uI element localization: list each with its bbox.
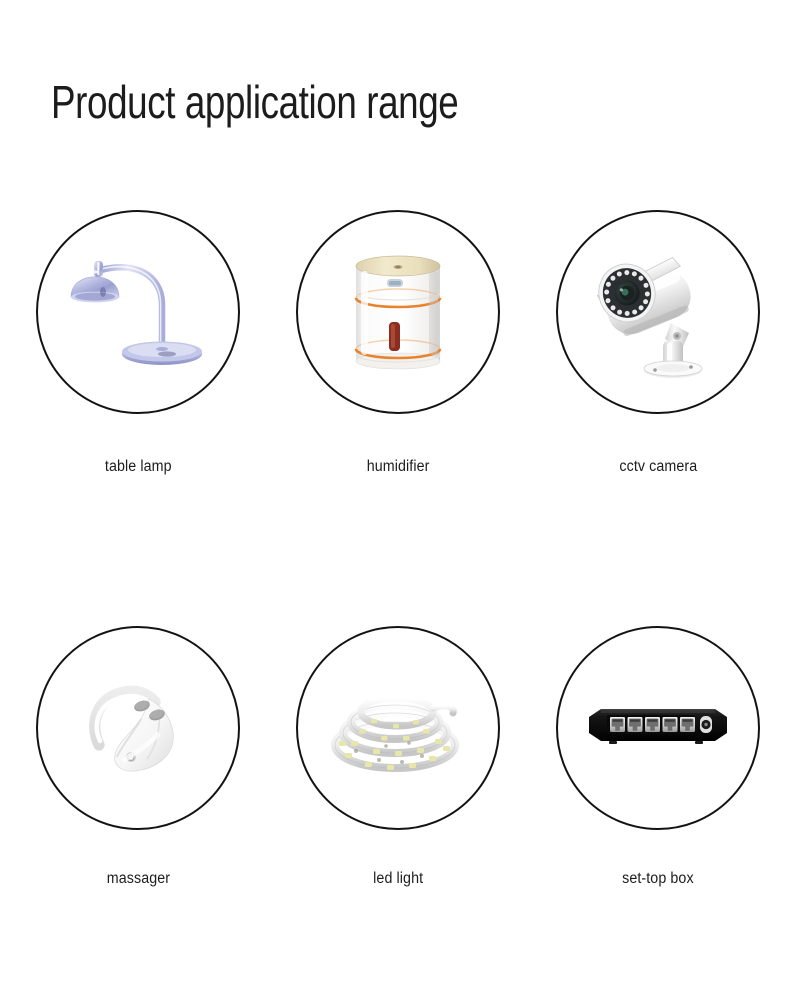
product-circle-table-lamp xyxy=(36,210,240,414)
application-row-1: table lamp xyxy=(0,210,800,476)
application-row-2: massager xyxy=(0,626,800,888)
product-application-page: Product application range xyxy=(0,0,800,1000)
page-title: Product application range xyxy=(51,76,458,128)
cctv-camera-icon xyxy=(583,237,733,387)
application-label-table-lamp: table lamp xyxy=(105,458,172,476)
humidifier-icon xyxy=(323,237,473,387)
application-label-massager: massager xyxy=(106,870,169,888)
application-label-humidifier: humidifier xyxy=(367,458,430,476)
product-circle-massager xyxy=(36,626,240,830)
set-top-box-icon xyxy=(583,653,733,803)
product-circle-led-light xyxy=(296,626,500,830)
application-item-humidifier[interactable]: humidifier xyxy=(268,210,528,476)
product-circle-humidifier xyxy=(296,210,500,414)
product-circle-cctv-camera xyxy=(556,210,760,414)
application-label-led-light: led light xyxy=(373,870,423,888)
application-item-led-light[interactable]: led light xyxy=(268,626,528,888)
application-item-table-lamp[interactable]: table lamp xyxy=(8,210,268,476)
application-item-cctv-camera[interactable]: cctv camera xyxy=(528,210,788,476)
led-strip-icon xyxy=(323,653,473,803)
application-label-cctv-camera: cctv camera xyxy=(619,458,697,476)
product-circle-set-top-box xyxy=(556,626,760,830)
neck-massager-icon xyxy=(63,653,213,803)
application-item-set-top-box[interactable]: set-top box xyxy=(528,626,788,888)
application-grid: table lamp xyxy=(0,210,800,888)
table-lamp-icon xyxy=(63,237,213,387)
application-item-massager[interactable]: massager xyxy=(8,626,268,888)
application-label-set-top-box: set-top box xyxy=(622,870,694,888)
